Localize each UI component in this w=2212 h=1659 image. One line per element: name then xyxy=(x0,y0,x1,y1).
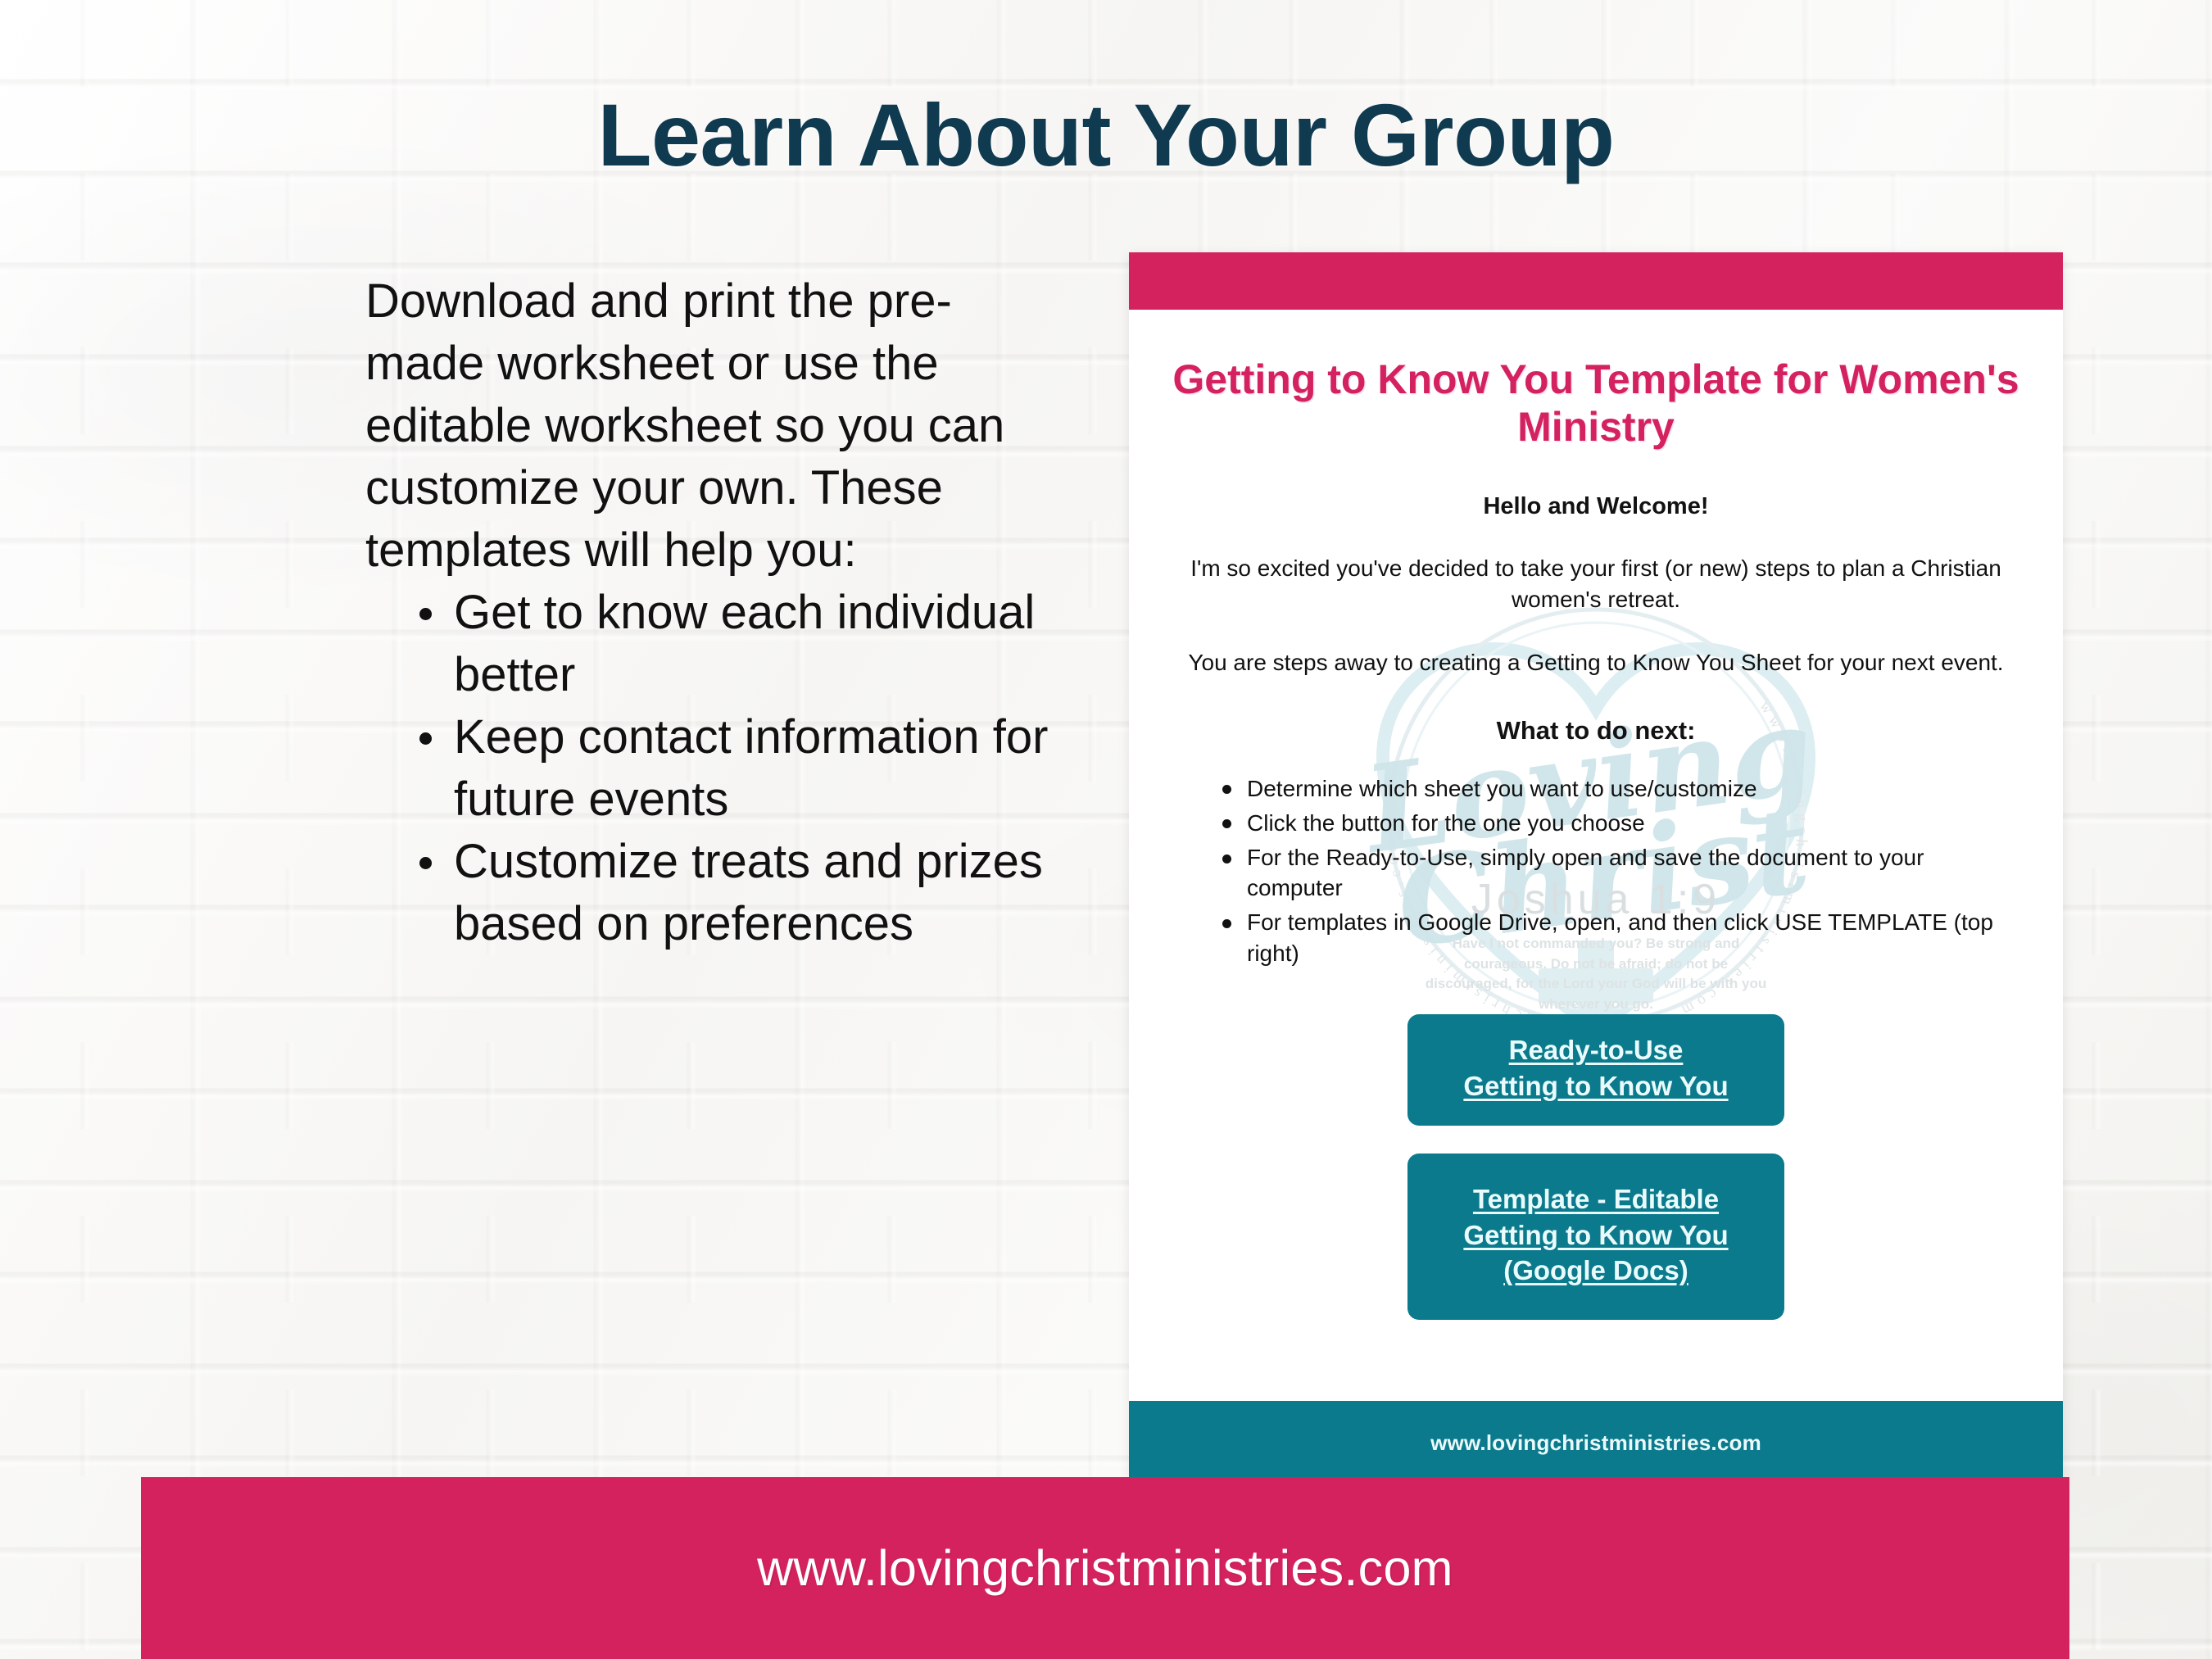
document-button-group: Ready-to-Use Getting to Know You Templat… xyxy=(1172,1014,2020,1320)
list-item: Determine which sheet you want to use/cu… xyxy=(1219,773,2012,804)
editable-template-button[interactable]: Template - Editable Getting to Know You … xyxy=(1407,1154,1784,1321)
banner-url-text: www.lovingchristministries.com xyxy=(757,1539,1453,1597)
bullet-dot-icon xyxy=(1222,785,1231,794)
bullet-dot-icon xyxy=(419,608,432,620)
document-paragraph-1: I'm so excited you've decided to take yo… xyxy=(1172,553,2020,614)
list-item-label: Customize treats and prizes based on pre… xyxy=(454,835,1043,950)
list-item: Keep contact information for future even… xyxy=(416,706,1054,831)
list-item-label: Keep contact information for future even… xyxy=(454,710,1048,826)
bullet-dot-icon xyxy=(1222,919,1231,928)
benefits-list: Get to know each individual better Keep … xyxy=(365,582,1054,955)
document-title: Getting to Know You Template for Women's… xyxy=(1172,310,2020,451)
list-item: Customize treats and prizes based on pre… xyxy=(416,831,1054,955)
intro-paragraph: Download and print the pre-made workshee… xyxy=(365,270,1054,582)
poster-canvas: Learn About Your Group Download and prin… xyxy=(0,0,2212,1659)
page-title: Learn About Your Group xyxy=(0,88,2212,181)
document-paragraph-2: You are steps away to creating a Getting… xyxy=(1172,647,2020,678)
ready-to-use-button[interactable]: Ready-to-Use Getting to Know You xyxy=(1407,1014,1784,1126)
document-footer-url: www.lovingchristministries.com xyxy=(1430,1430,1761,1456)
document-top-accent-bar xyxy=(1129,252,2063,310)
list-item-label: For the Ready-to-Use, simply open and sa… xyxy=(1247,845,1924,900)
list-item: For templates in Google Drive, open, and… xyxy=(1219,907,2012,968)
document-preview-panel: www.lovingchristministries.com · www.lov… xyxy=(1129,252,2063,1484)
list-item-label: Determine which sheet you want to use/cu… xyxy=(1247,776,1757,801)
document-footer-bar: www.lovingchristministries.com xyxy=(1129,1401,2063,1484)
list-item: Get to know each individual better xyxy=(416,582,1054,706)
bullet-dot-icon xyxy=(419,857,432,869)
bullet-dot-icon xyxy=(419,732,432,745)
bottom-url-banner: www.lovingchristministries.com xyxy=(141,1477,2069,1659)
list-item-label: Get to know each individual better xyxy=(454,586,1035,701)
document-greeting: Hello and Welcome! xyxy=(1172,493,2020,520)
document-body: www.lovingchristministries.com · www.lov… xyxy=(1129,310,2063,1401)
next-steps-list: Determine which sheet you want to use/cu… xyxy=(1172,773,2020,968)
bullet-dot-icon xyxy=(1222,819,1231,828)
list-item-label: Click the button for the one you choose xyxy=(1247,810,1645,836)
list-item: For the Ready-to-Use, simply open and sa… xyxy=(1219,842,2012,903)
what-to-do-next-heading: What to do next: xyxy=(1172,716,2020,746)
document-content: Getting to Know You Template for Women's… xyxy=(1172,310,2020,1320)
list-item: Click the button for the one you choose xyxy=(1219,808,2012,838)
list-item-label: For templates in Google Drive, open, and… xyxy=(1247,909,1993,965)
left-copy-column: Download and print the pre-made workshee… xyxy=(365,270,1054,955)
bullet-dot-icon xyxy=(1222,854,1231,863)
